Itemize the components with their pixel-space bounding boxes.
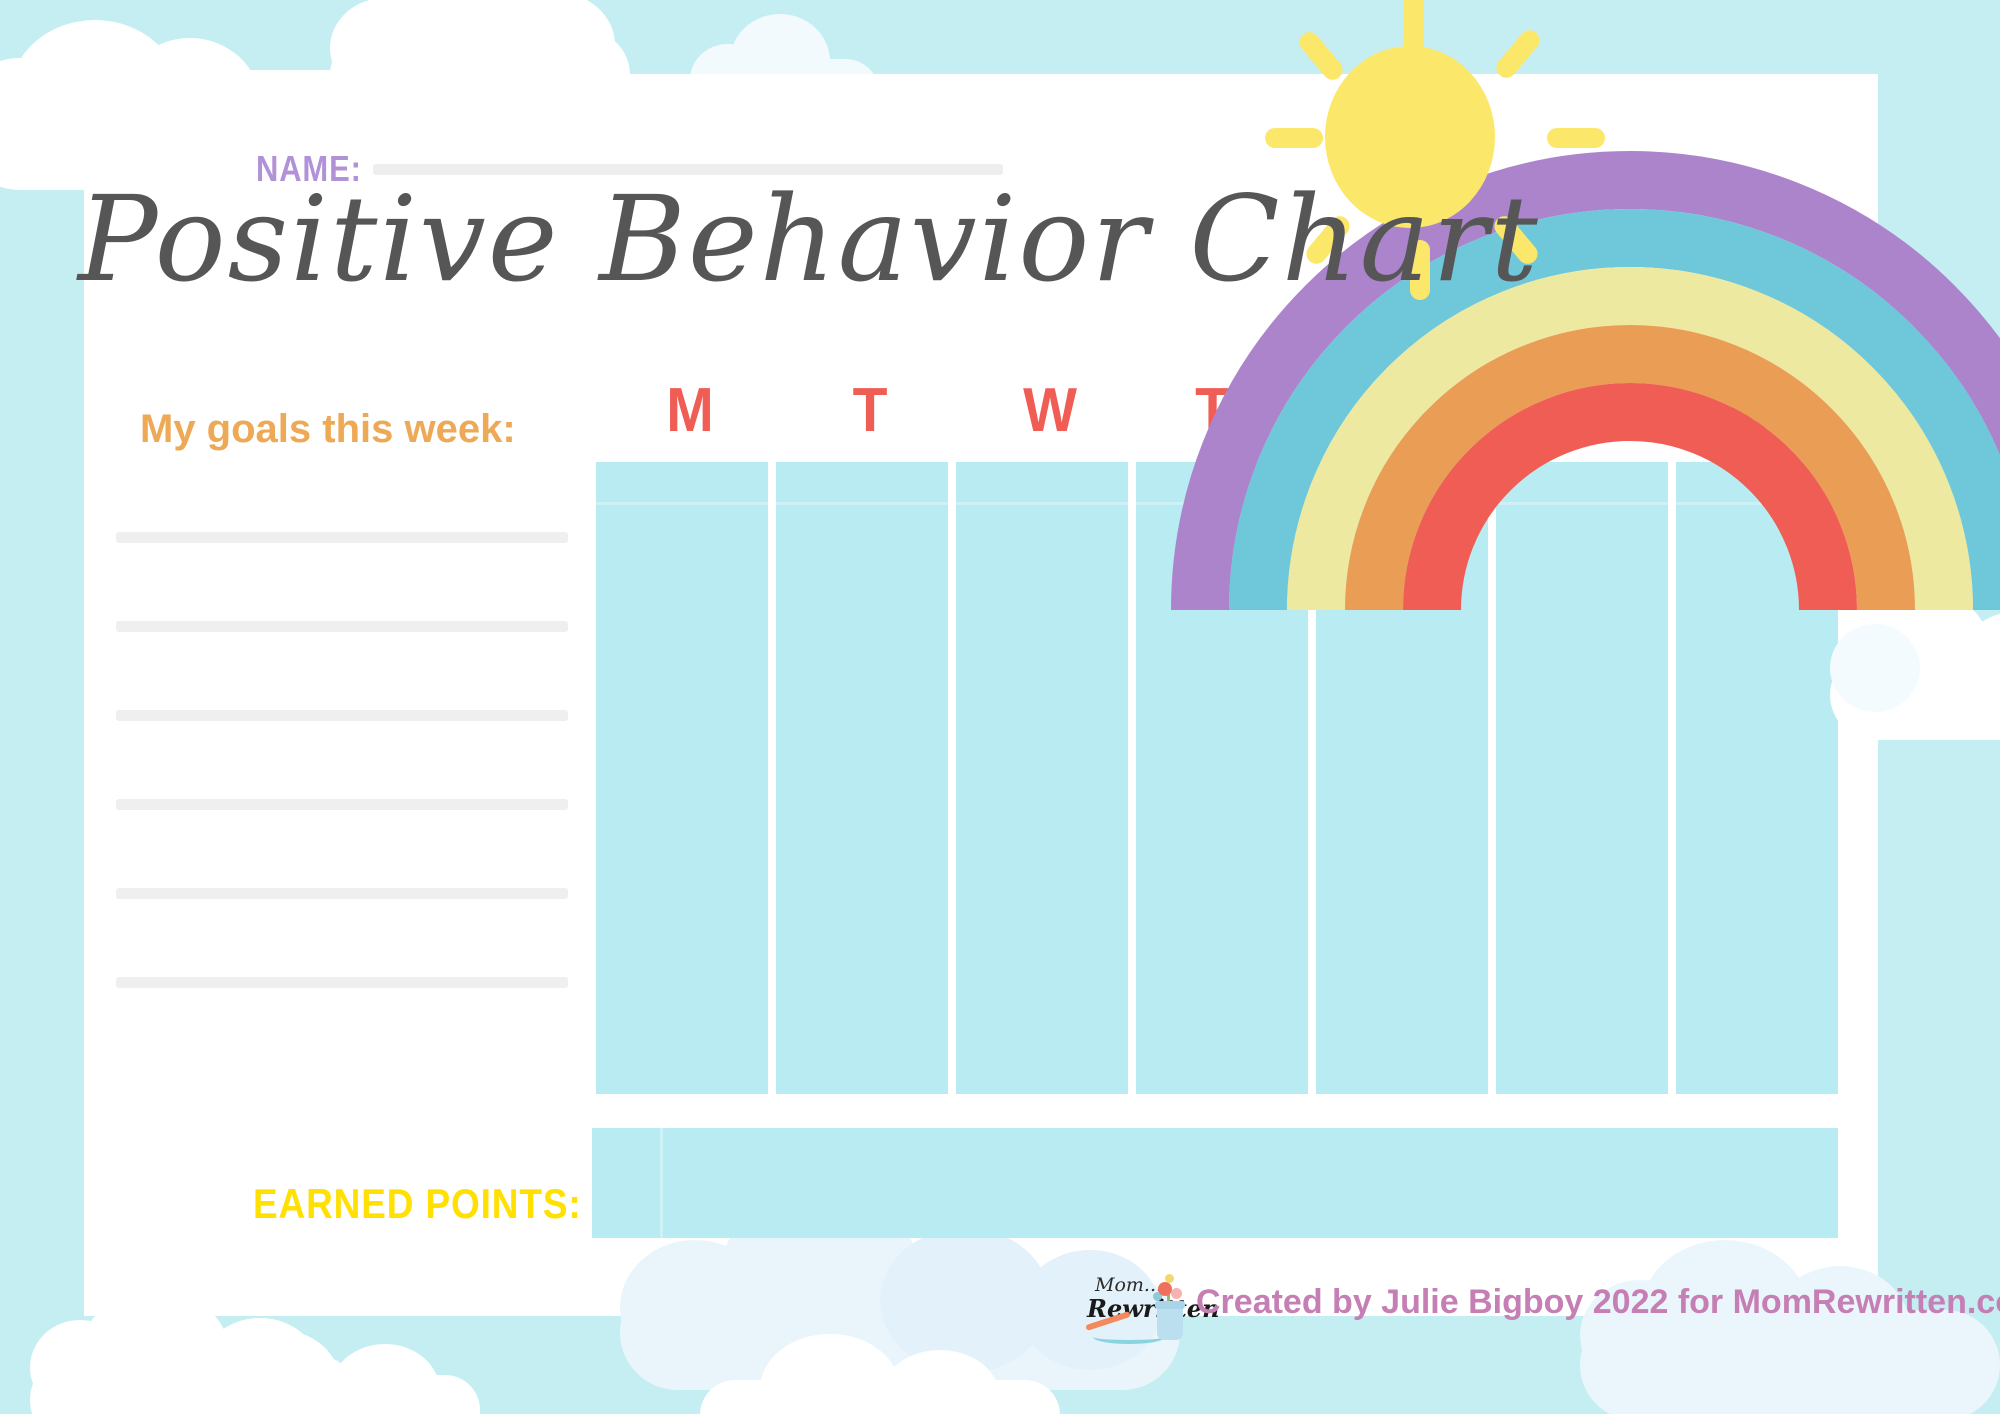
earned-points-divider bbox=[660, 1128, 663, 1238]
mason-jar-icon bbox=[1157, 1306, 1183, 1340]
earned-points-box[interactable] bbox=[592, 1128, 1838, 1238]
cloud-bottom-mid bbox=[700, 1340, 1060, 1414]
goal-line[interactable] bbox=[116, 888, 568, 899]
logo-text-top: Mom... bbox=[1095, 1274, 1162, 1296]
day-header-w: W bbox=[967, 375, 1133, 446]
goals-line-list bbox=[116, 532, 568, 1066]
printable-behavior-chart: NAME: Positive Behavior Chart My goals t… bbox=[0, 0, 2000, 1414]
sun-ray bbox=[1265, 128, 1323, 148]
cloud-bottom-right-pale bbox=[1580, 1230, 2000, 1414]
momrewritten-logo: Mom... Rewritten bbox=[1085, 1272, 1193, 1350]
page-title: Positive Behavior Chart bbox=[78, 170, 1540, 308]
goal-line[interactable] bbox=[116, 799, 568, 810]
day-header-m: M bbox=[607, 375, 773, 446]
earned-points-label: EARNED POINTS: bbox=[253, 1180, 582, 1228]
credit-text: Created by Julie Bigboy 2022 for MomRewr… bbox=[1196, 1283, 2000, 1322]
day-column-m[interactable] bbox=[596, 462, 768, 1094]
rainbow-decoration bbox=[1140, 0, 2000, 640]
day-header-t: T bbox=[787, 375, 953, 446]
flower-icon bbox=[1158, 1282, 1172, 1296]
sun-ray bbox=[1547, 128, 1605, 148]
goal-line[interactable] bbox=[116, 977, 568, 988]
goal-line[interactable] bbox=[116, 710, 568, 721]
goal-line[interactable] bbox=[116, 532, 568, 543]
cloud-bottom-left-2 bbox=[180, 1330, 480, 1414]
flower-icon bbox=[1171, 1288, 1182, 1299]
day-column-w[interactable] bbox=[956, 462, 1128, 1094]
goal-line[interactable] bbox=[116, 621, 568, 632]
logo-blue-swoosh bbox=[1093, 1330, 1165, 1344]
mason-jar-lid-icon bbox=[1155, 1301, 1185, 1309]
goals-heading: My goals this week: bbox=[140, 407, 516, 452]
day-column-t[interactable] bbox=[776, 462, 948, 1094]
